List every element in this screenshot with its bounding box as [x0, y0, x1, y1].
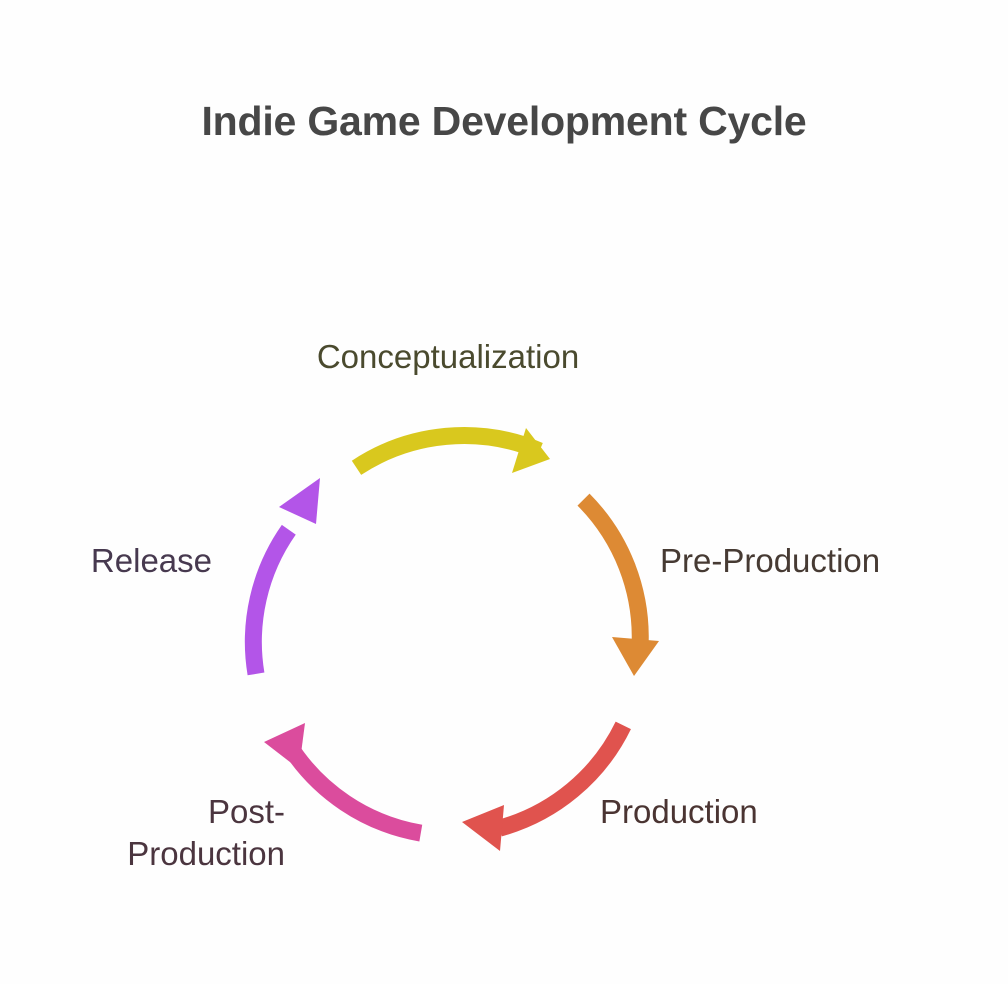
arrow-conceptualization [357, 428, 551, 473]
arrow-release [253, 478, 320, 674]
arc-post-production [288, 744, 420, 833]
arrowhead-pre-production [612, 637, 659, 676]
arc-release [253, 530, 288, 674]
stage-label-post-production[interactable]: Post- Production [0, 791, 285, 875]
stage-label-production[interactable]: Production [600, 791, 920, 833]
diagram-canvas: Indie Game Development Cycle Conceptuali [0, 0, 1008, 984]
arrowhead-release [279, 478, 320, 524]
arc-conceptualization [357, 436, 540, 468]
arrow-pre-production [584, 500, 660, 676]
stage-label-pre-production[interactable]: Pre-Production [660, 540, 980, 582]
arrowhead-post-production [264, 723, 305, 769]
stage-label-conceptualization[interactable]: Conceptualization [168, 336, 728, 378]
arc-pre-production [584, 500, 641, 645]
arrow-post-production [264, 723, 421, 833]
stage-label-release[interactable]: Release [0, 540, 212, 582]
arrowhead-production [462, 805, 504, 851]
